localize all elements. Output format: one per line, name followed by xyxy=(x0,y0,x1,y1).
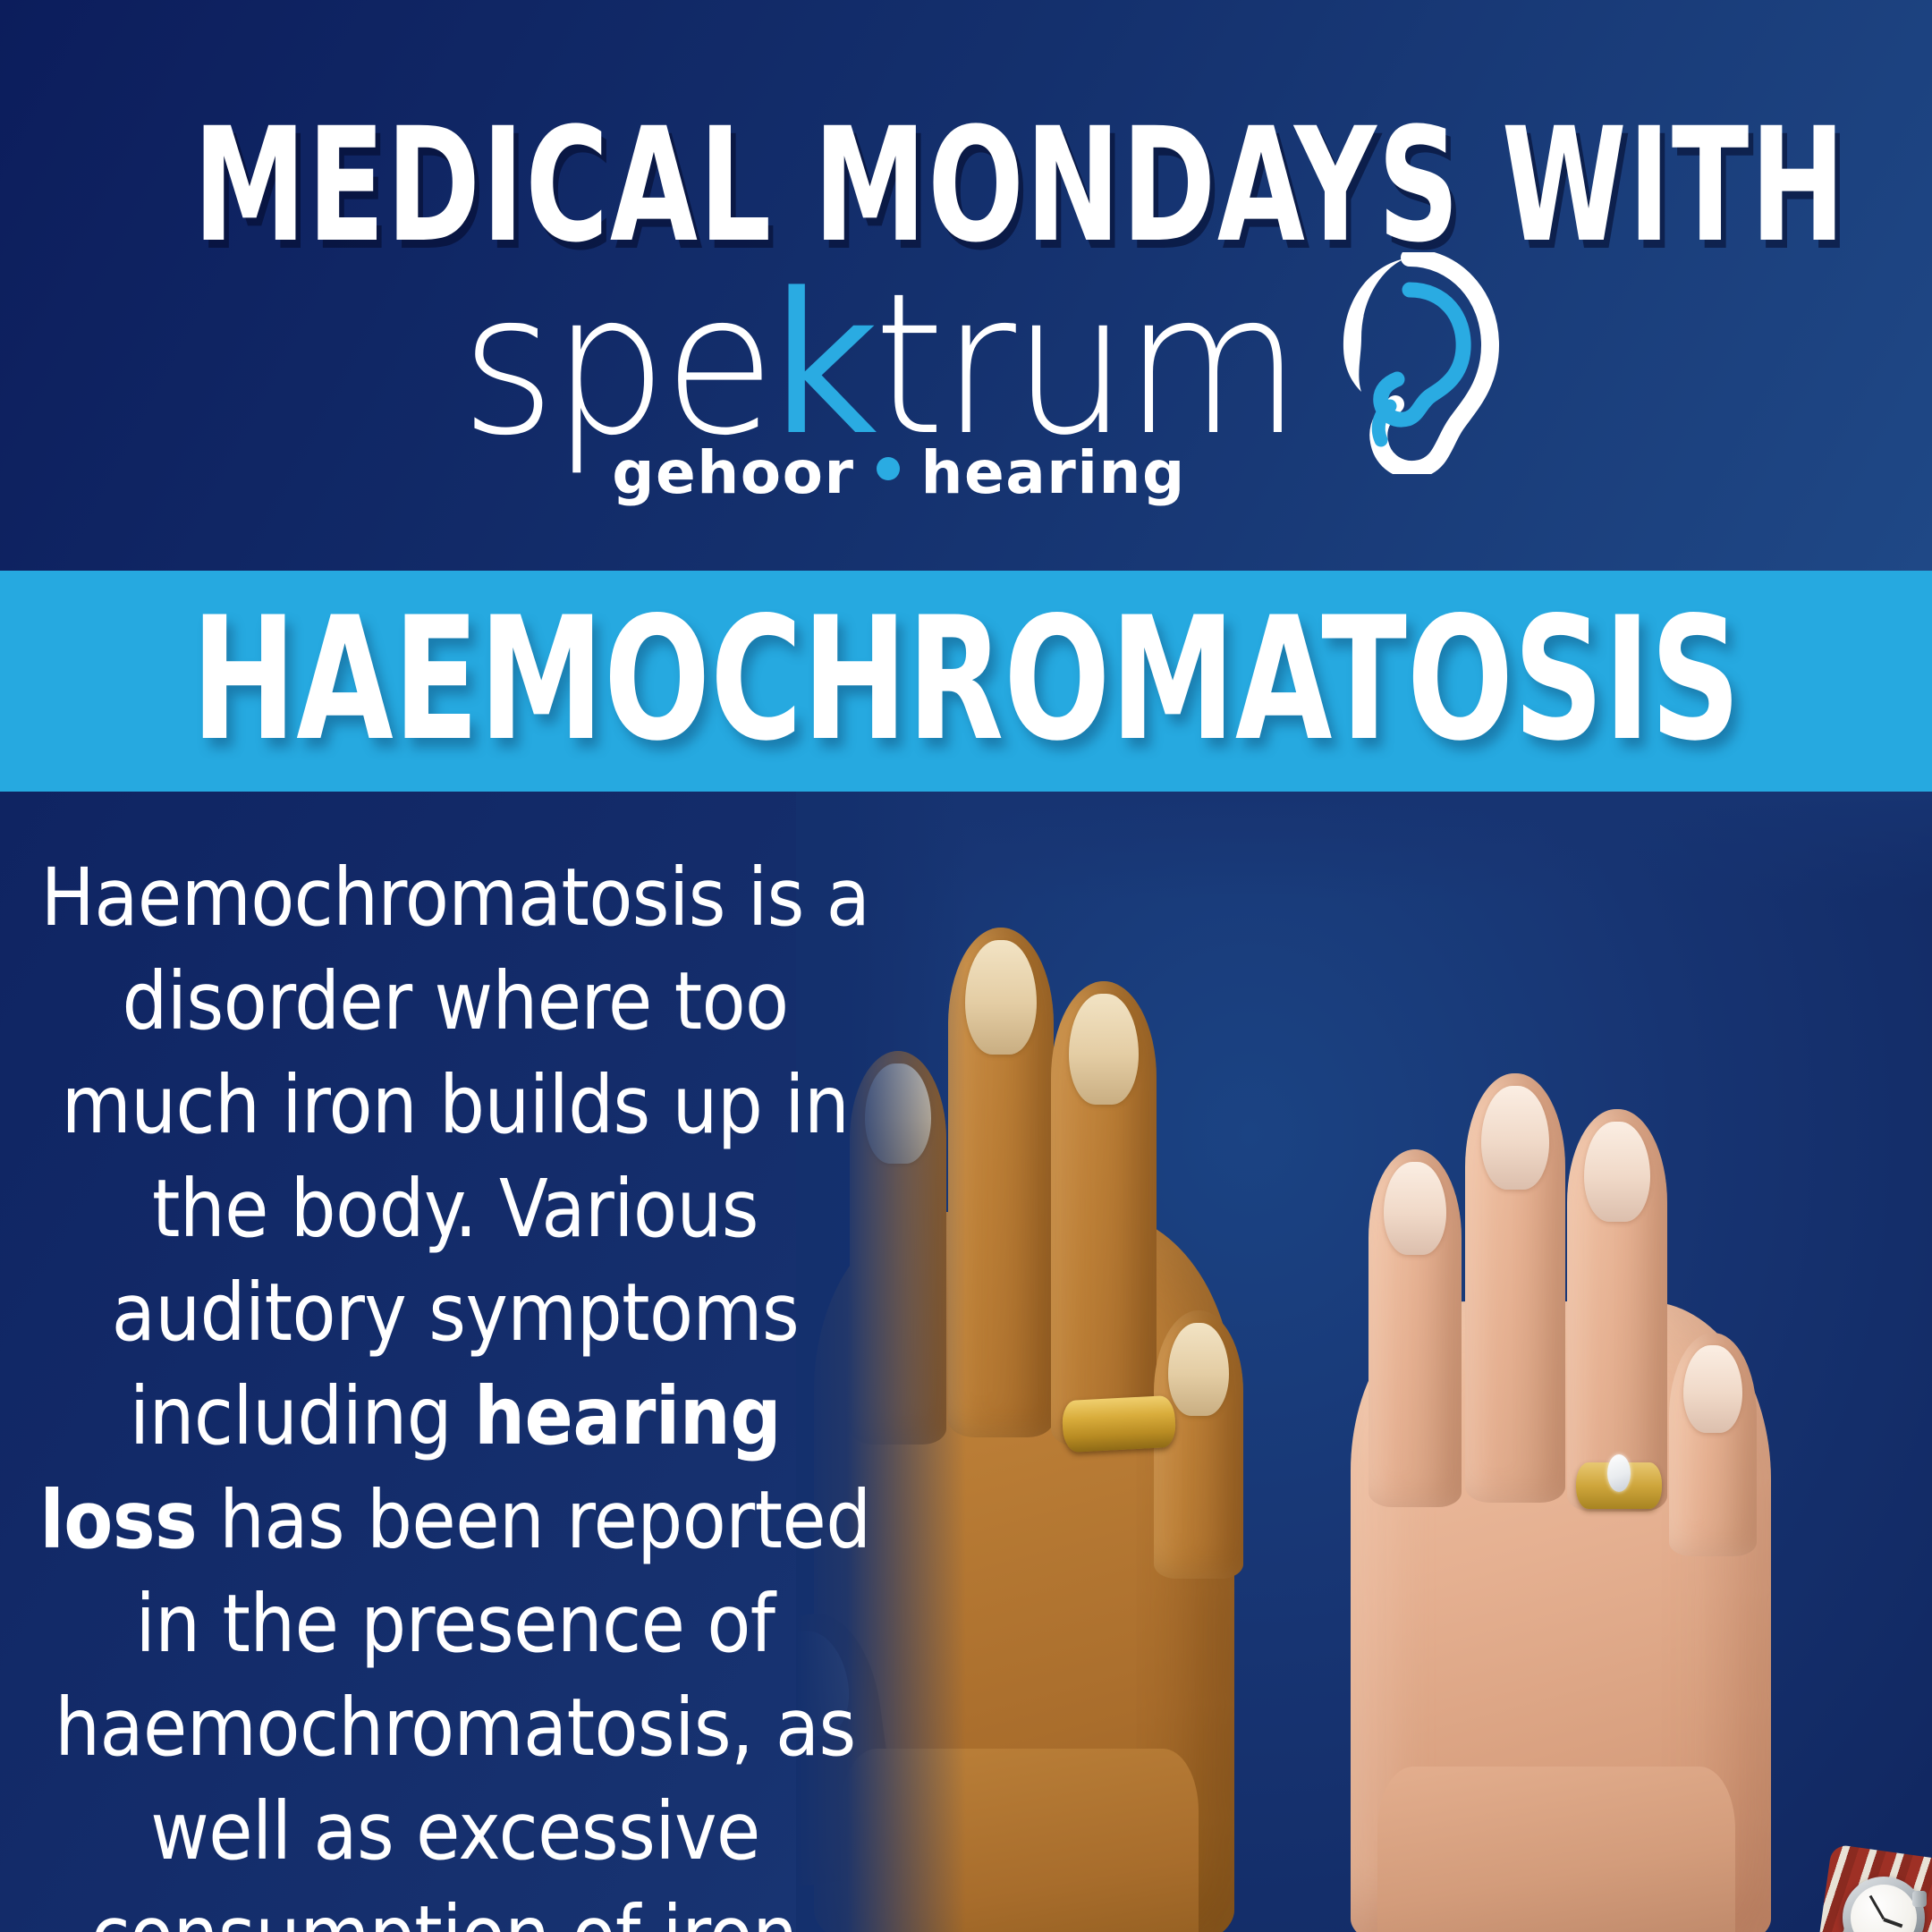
topic-title: HAEMOCHROMATOSIS xyxy=(174,590,1758,769)
left-hand-ring-finger xyxy=(1051,981,1157,1446)
watch-hour-hand xyxy=(1883,1918,1902,1928)
fingernail xyxy=(865,1063,931,1164)
normal-toned-hand xyxy=(1315,926,1932,1932)
fingernail xyxy=(1069,994,1139,1105)
body-copy: Haemochromatosis is a disorder where too… xyxy=(39,845,871,1932)
ear-icon xyxy=(1324,252,1503,474)
header-section: MEDICAL MONDAYS WITH spektrum gehoorhear… xyxy=(0,0,1932,571)
infographic-poster: MEDICAL MONDAYS WITH spektrum gehoorhear… xyxy=(0,0,1932,1932)
right-hand-little-finger xyxy=(1669,1333,1757,1556)
hands-comparison-photo xyxy=(796,792,1932,1932)
fingernail xyxy=(1683,1345,1742,1433)
right-hand-middle-finger xyxy=(1465,1073,1565,1503)
fingernail xyxy=(1168,1323,1229,1416)
fingernail xyxy=(1481,1086,1549,1190)
page-title: MEDICAL MONDAYS WITH xyxy=(193,107,1739,265)
wristwatch xyxy=(1816,1851,1932,1932)
bronze-pigmented-hand xyxy=(796,827,1351,1932)
left-hand-wrist xyxy=(841,1749,1199,1932)
right-hand-ring-finger xyxy=(1567,1109,1667,1512)
brand-logo: spektrum gehoorhearing xyxy=(0,268,1932,537)
watch-minute-hand xyxy=(1869,1895,1885,1919)
logo-tagline: gehoorhearing xyxy=(0,444,1932,503)
fingernail xyxy=(1584,1122,1650,1222)
topic-banner: HAEMOCHROMATOSIS xyxy=(0,571,1932,792)
tagline-left: gehoor xyxy=(612,438,854,507)
fingernail xyxy=(965,940,1037,1055)
body-section: Haemochromatosis is a disorder where too… xyxy=(0,792,1932,1932)
watch-face xyxy=(1851,1885,1917,1932)
fingernail xyxy=(1384,1162,1446,1255)
gemstone-ring xyxy=(1576,1462,1662,1509)
watch-crown xyxy=(1912,1891,1927,1907)
left-hand-middle-finger xyxy=(948,928,1054,1437)
right-hand-index-finger xyxy=(1368,1149,1462,1507)
right-hand-wrist xyxy=(1377,1767,1735,1932)
tagline-separator-dot xyxy=(877,457,900,480)
tagline-right: hearing xyxy=(921,438,1186,507)
gold-wedding-band xyxy=(1062,1395,1177,1453)
logo-wordmark: spektrum xyxy=(461,268,1298,463)
